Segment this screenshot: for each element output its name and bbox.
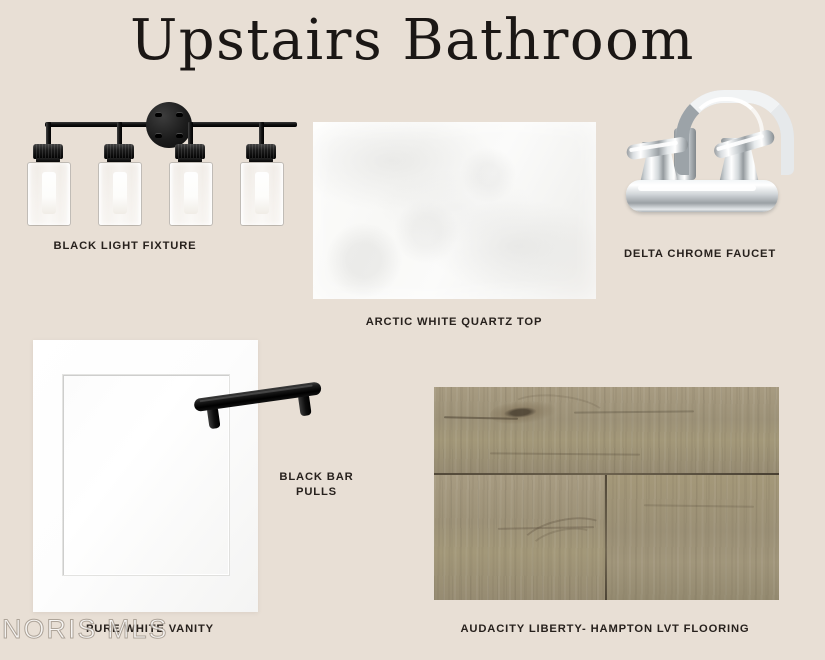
caption-line-1: BLACK BAR — [279, 471, 353, 483]
product-image-pure-white-vanity — [33, 340, 258, 612]
light-bulb — [113, 172, 127, 214]
light-bulb — [255, 172, 269, 214]
product-image-arctic-white-quartz-top — [313, 122, 596, 299]
caption-black-light-fixture: BLACK LIGHT FIXTURE — [35, 239, 215, 254]
backplate-screw — [176, 112, 183, 117]
caption-delta-chrome-faucet: DELTA CHROME FAUCET — [600, 247, 800, 262]
light-bulb — [184, 172, 198, 214]
light-arm-left — [45, 122, 153, 127]
light-glass-shade — [240, 162, 284, 226]
caption-black-bar-pulls: BLACK BAR PULLS — [259, 470, 374, 500]
caption-arctic-white-quartz-top: ARCTIC WHITE QUARTZ TOP — [334, 315, 574, 330]
lvt-plank — [434, 387, 779, 473]
light-arm-right — [185, 122, 297, 127]
product-image-delta-chrome-faucet — [614, 88, 790, 220]
light-socket-collar — [175, 144, 205, 159]
light-socket-collar — [33, 144, 63, 159]
faucet-deck-highlight — [638, 185, 756, 191]
watermark: NORIS MLS — [2, 614, 169, 645]
caption-audacity-liberty-hampton-lvt-flooring: AUDACITY LIBERTY- HAMPTON LVT FLOORING — [440, 622, 770, 637]
backplate-screw — [155, 112, 162, 117]
light-backplate — [146, 102, 192, 148]
product-image-black-light-fixture — [12, 100, 308, 210]
light-bulb — [42, 172, 56, 214]
light-glass-shade — [169, 162, 213, 226]
backplate-screw — [176, 133, 183, 138]
light-glass-shade — [98, 162, 142, 226]
lvt-plank-seam-vertical — [605, 475, 607, 600]
mood-board: Upstairs Bathroom — [0, 0, 825, 660]
caption-line-2: PULLS — [296, 486, 337, 498]
product-image-audacity-liberty-hampton-lvt-flooring — [434, 387, 779, 600]
light-glass-shade — [27, 162, 71, 226]
light-socket-collar — [246, 144, 276, 159]
page-title: Upstairs Bathroom — [0, 6, 825, 76]
backplate-screw — [155, 133, 162, 138]
lvt-plank — [606, 475, 779, 600]
light-socket-collar — [104, 144, 134, 159]
